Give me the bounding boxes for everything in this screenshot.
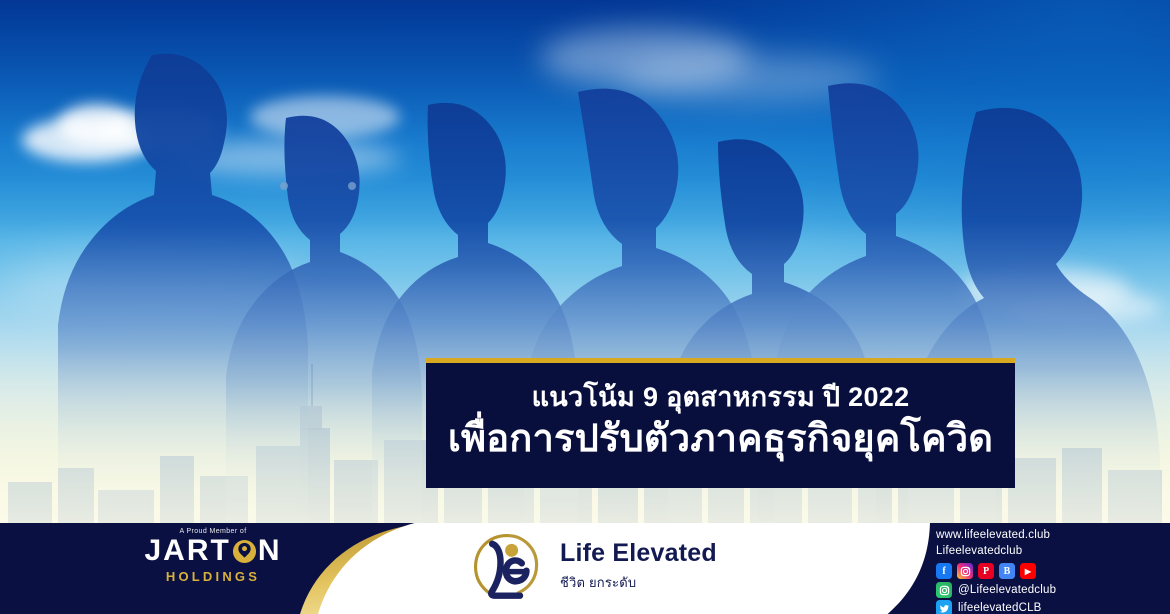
youtube-icon[interactable]: ▶ <box>1020 563 1036 579</box>
pinterest-icon[interactable]: P <box>978 563 994 579</box>
jarton-wordmark-part1: JART <box>144 536 230 566</box>
life-elevated-name: Life Elevated <box>560 541 717 566</box>
instagram-icon[interactable] <box>936 582 952 598</box>
life-elevated-lockup: Life Elevated ชีวิต ยกระดับ <box>470 530 717 604</box>
twitter-handle-row[interactable]: lifeelevatedCLB <box>936 600 1056 614</box>
twitter-icon[interactable] <box>936 600 952 614</box>
instagram-handle-row[interactable]: @Lifeelevatedclub <box>936 582 1056 598</box>
social-icons-row: f P B ▶ <box>936 563 1056 579</box>
jarton-subtitle: HOLDINGS <box>128 569 298 584</box>
instagram-icon[interactable] <box>957 563 973 579</box>
promo-banner: แนวโน้ม 9 อุตสาหกรรม ปี 2022 เพื่อการปรั… <box>0 0 1170 614</box>
headline-box: แนวโน้ม 9 อุตสาหกรรม ปี 2022 เพื่อการปรั… <box>426 358 1015 488</box>
facebook-icon[interactable]: f <box>936 563 952 579</box>
jarton-holdings-logo: A Proud Member of JART N HOLDINGS <box>128 528 298 584</box>
contact-block: www.lifeelevated.club Lifeelevatedclub f… <box>936 527 1056 614</box>
facebook-page-name[interactable]: Lifeelevatedclub <box>936 543 1056 559</box>
headline-line-1: แนวโน้ม 9 อุตสาหกรรม ปี 2022 <box>532 382 910 413</box>
headline-line-2: เพื่อการปรับตัวภาคธุรกิจยุคโควิด <box>448 417 993 463</box>
life-elevated-logo-icon <box>470 530 544 604</box>
instagram-handle[interactable]: @Lifeelevatedclub <box>958 582 1056 598</box>
jarton-wordmark-part2: N <box>258 536 282 566</box>
twitter-handle[interactable]: lifeelevatedCLB <box>958 600 1042 614</box>
jarton-wordmark: JART N <box>128 536 298 566</box>
life-elevated-tagline: ชีวิต ยกระดับ <box>560 572 717 593</box>
website-link[interactable]: www.lifeelevated.club <box>936 527 1056 543</box>
blogger-icon[interactable]: B <box>999 563 1015 579</box>
jarton-o-icon <box>232 539 257 564</box>
